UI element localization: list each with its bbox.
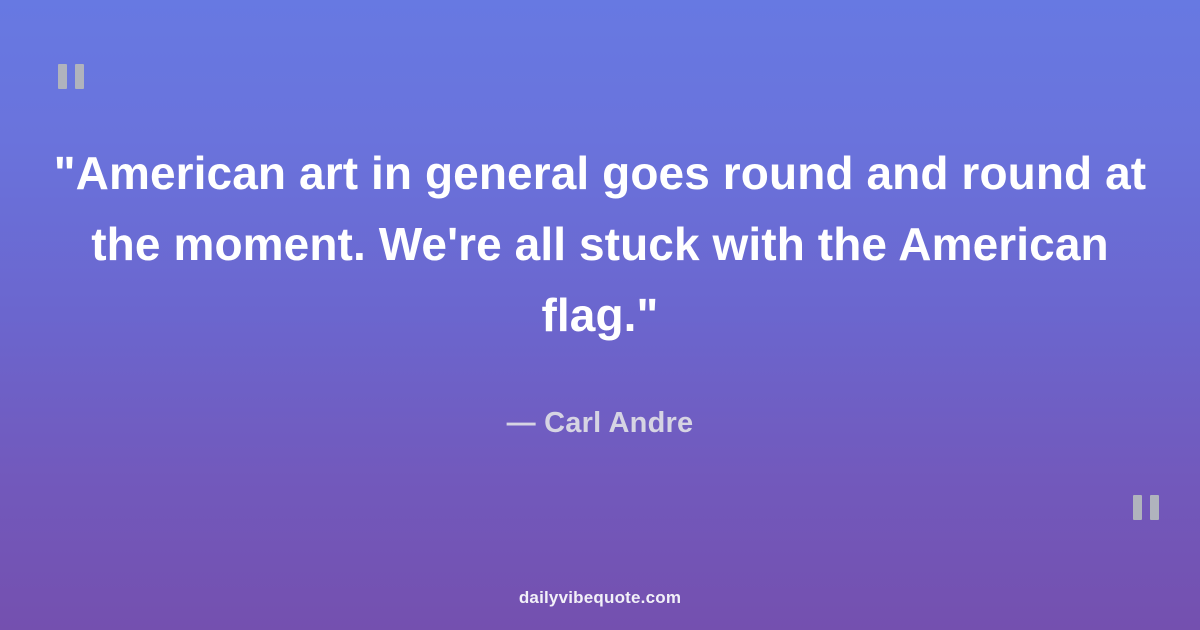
quote-close-bar-right — [1150, 495, 1159, 520]
footer: dailyvibequote.com — [0, 588, 1200, 608]
footer-site-label: dailyvibequote.com — [519, 588, 681, 607]
quote-close-icon — [1133, 495, 1159, 520]
quote-open-bar-left — [58, 64, 67, 89]
quote-text: "American art in general goes round and … — [44, 138, 1156, 351]
quote-open-bar-right — [75, 64, 84, 89]
quote-card: "American art in general goes round and … — [0, 0, 1200, 630]
quote-open-icon — [58, 64, 84, 89]
quote-close-bar-left — [1133, 495, 1142, 520]
quote-content: "American art in general goes round and … — [0, 138, 1200, 440]
quote-attribution: — Carl Andre — [44, 351, 1156, 440]
